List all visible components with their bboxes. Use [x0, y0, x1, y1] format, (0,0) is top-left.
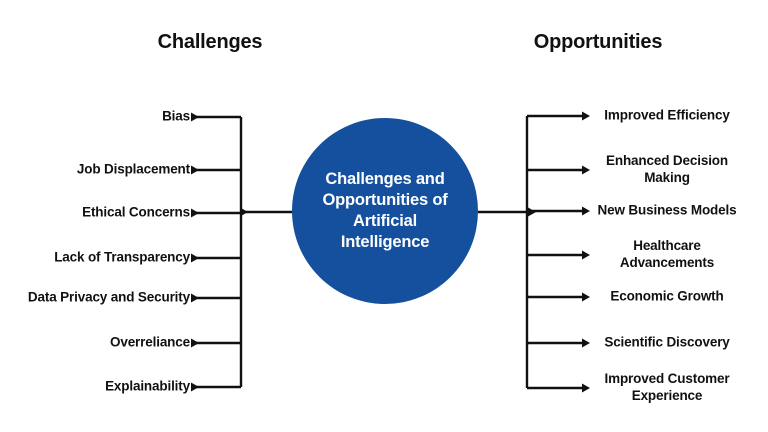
challenge-label-0[interactable]: Bias: [162, 109, 190, 126]
challenge-label-4[interactable]: Data Privacy and Security: [28, 290, 190, 307]
challenge-label-3[interactable]: Lack of Transparency: [54, 250, 190, 267]
central-node[interactable]: Challenges and Opportunities of Artifici…: [292, 118, 478, 304]
opportunity-label-6[interactable]: Improved Customer Experience: [588, 371, 746, 405]
diagram-canvas: Challenges Opportunities Challenges and …: [0, 0, 768, 432]
opportunity-label-5[interactable]: Scientific Discovery: [588, 335, 746, 352]
opportunity-label-2[interactable]: New Business Models: [588, 203, 746, 220]
opportunity-label-1[interactable]: Enhanced Decision Making: [588, 153, 746, 187]
challenge-label-6[interactable]: Explainability: [105, 379, 190, 396]
challenge-label-5[interactable]: Overreliance: [110, 335, 190, 352]
central-node-label: Challenges and Opportunities of Artifici…: [310, 169, 459, 253]
challenge-label-1[interactable]: Job Displacement: [77, 162, 190, 179]
challenge-label-2[interactable]: Ethical Concerns: [82, 205, 190, 222]
opportunity-label-4[interactable]: Economic Growth: [588, 289, 746, 306]
opportunity-label-0[interactable]: Improved Efficiency: [588, 108, 746, 125]
opportunity-label-3[interactable]: Healthcare Advancements: [588, 238, 746, 272]
